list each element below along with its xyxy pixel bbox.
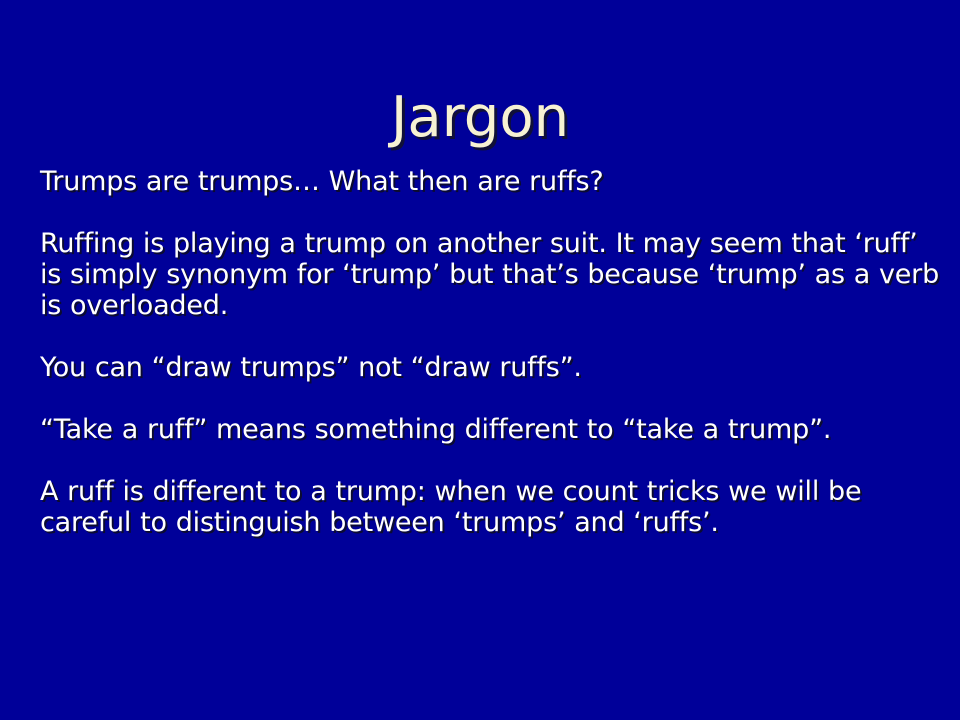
presentation-slide: Jargon Trumps are trumps… What then are … bbox=[0, 0, 960, 720]
slide-body: Trumps are trumps… What then are ruffs? … bbox=[40, 166, 940, 538]
body-paragraph-3: You can “draw trumps” not “draw ruffs”. bbox=[40, 352, 940, 383]
body-paragraph-2: Ruffing is playing a trump on another su… bbox=[40, 228, 940, 321]
slide-title: Jargon bbox=[0, 86, 960, 150]
body-paragraph-4: “Take a ruff” means something different … bbox=[40, 414, 940, 445]
body-paragraph-1: Trumps are trumps… What then are ruffs? bbox=[40, 166, 940, 197]
body-paragraph-5: A ruff is different to a trump: when we … bbox=[40, 476, 940, 538]
